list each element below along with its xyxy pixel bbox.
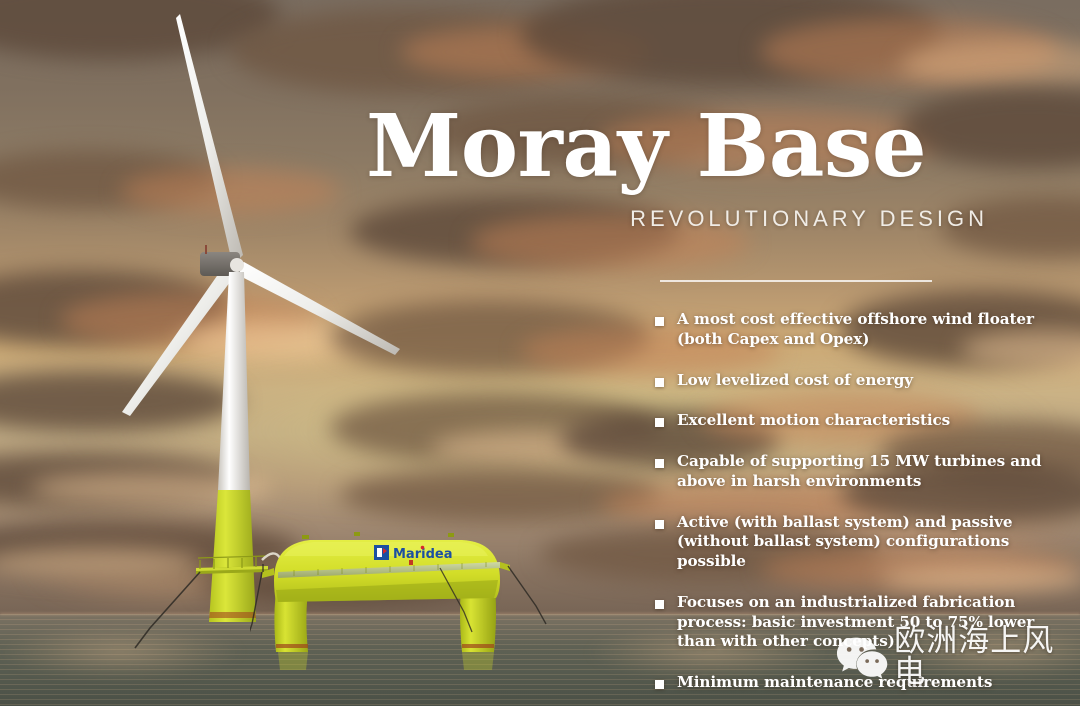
- reflection-leg-right: [462, 652, 494, 670]
- page-subtitle: REVOLUTIONARY DESIGN: [630, 206, 988, 232]
- bullet-square-icon: [655, 378, 664, 387]
- waterline-band-right: [462, 644, 494, 648]
- mooring-line-right: [508, 566, 546, 624]
- page-title: Moray Base: [366, 104, 1006, 190]
- bullet-square-icon: [655, 459, 664, 468]
- mooring-line-tower: [135, 572, 200, 648]
- fairlead-left: [262, 568, 274, 578]
- list-item: Capable of supporting 15 MW turbines and…: [655, 452, 1067, 492]
- bullet-text: Capable of supporting 15 MW turbines and…: [677, 452, 1067, 492]
- bullet-text: A most cost effective offshore wind floa…: [677, 310, 1067, 350]
- bullet-text: Excellent motion characteristics: [677, 411, 950, 431]
- deck-equipment-right: [448, 533, 454, 537]
- deck-equipment-mid: [354, 532, 360, 536]
- mooring-line-left: [250, 572, 262, 648]
- nacelle-mast: [205, 245, 207, 254]
- waterline-band-left: [276, 644, 308, 648]
- bullet-square-icon: [655, 600, 664, 609]
- turbine-tower-upper: [218, 272, 250, 490]
- bullet-square-icon: [655, 317, 664, 326]
- watermark-text: 欧洲海上风电: [894, 626, 1080, 688]
- maridea-logo-dot: [421, 546, 425, 550]
- slide-canvas: Maridea Moray Base REVOLUTIONARY DESIGN …: [0, 0, 1080, 706]
- turbine-blade-3: [122, 263, 236, 416]
- turbine-hub: [230, 258, 244, 272]
- wechat-watermark: 欧洲海上风电: [836, 626, 1080, 688]
- bullet-text: Active (with ballast system) and passive…: [677, 513, 1067, 572]
- bullet-square-icon: [655, 418, 664, 427]
- turbine-blade-2: [236, 262, 400, 355]
- turbine-blade-1: [176, 14, 243, 262]
- bullet-text: Low levelized cost of energy: [677, 371, 913, 391]
- wechat-icon: [836, 634, 888, 680]
- list-item: A most cost effective offshore wind floa…: [655, 310, 1067, 350]
- deck-equipment-left: [302, 535, 309, 539]
- list-item: Active (with ballast system) and passive…: [655, 513, 1067, 572]
- tower-waterline-band: [209, 612, 256, 618]
- title-divider: [660, 280, 932, 282]
- reflection-leg-left: [278, 652, 308, 670]
- bullet-square-icon: [655, 520, 664, 529]
- bullet-square-icon: [655, 680, 664, 689]
- floating-platform: Maridea: [250, 520, 550, 670]
- list-item: Excellent motion characteristics: [655, 411, 1067, 431]
- maridea-logo-mark: [374, 545, 389, 560]
- list-item: Low levelized cost of energy: [655, 371, 1067, 391]
